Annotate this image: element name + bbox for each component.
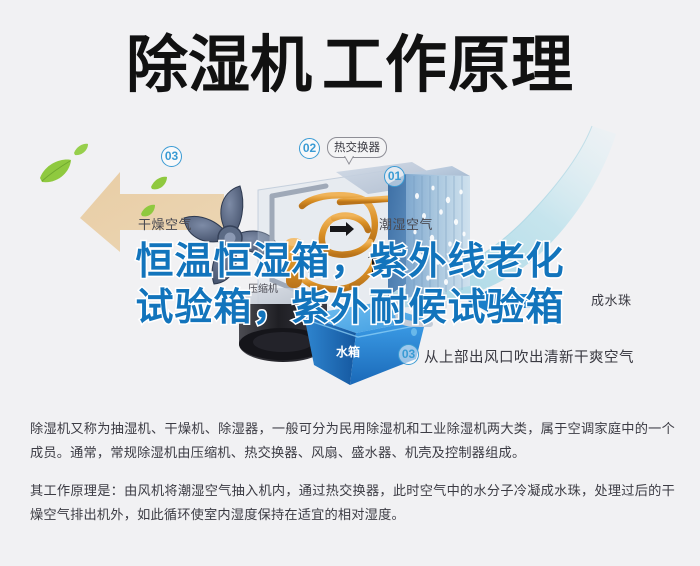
water-tank-label: 水箱 (336, 343, 360, 360)
drain-pipe-icon (394, 294, 434, 336)
intake-arrow-icon (466, 290, 530, 312)
page-title-part1: 除湿机 (126, 28, 312, 101)
page-root: 除湿机工作原理 (0, 0, 700, 566)
callout-label-condense: 成水珠 (591, 290, 632, 309)
callout-badge-01-moist: 01 (384, 166, 405, 187)
callout-badge-03-dry: 03 (161, 146, 182, 167)
callout-badge-03-outlet: 03 (398, 344, 419, 365)
callout-label-heat-exchanger: 热交换器 (327, 137, 387, 158)
paragraph-1: 除湿机又称为抽湿机、干燥机、除湿器，一般可分为民用除湿机和工业除湿机两大类，属于… (30, 418, 675, 466)
page-title: 除湿机工作原理 (0, 30, 700, 100)
paragraph-2: 其工作原理是：由风机将潮湿空气抽入机内，通过热交换器，此时空气中的水分子冷凝成水… (30, 480, 675, 528)
callout-label-outlet: 从上部出风口吹出清新干爽空气 (424, 346, 634, 367)
callout-label-moist-air: 潮湿空气 (379, 214, 433, 233)
callout-bubble-tail (344, 156, 354, 165)
dehumidifier-diagram: 03 干燥空气 02 热交换器 01 潮湿空气 成水珠 03 从上部出风口吹出清… (0, 118, 700, 403)
page-title-part2: 工作原理 (322, 28, 574, 101)
body-copy: 除湿机又称为抽湿机、干燥机、除湿器，一般可分为民用除湿机和工业除湿机两大类，属于… (30, 418, 675, 528)
leaf-icon (73, 143, 89, 156)
callout-label-dry-air: 干燥空气 (138, 214, 192, 233)
leaf-icon (38, 158, 72, 184)
compressor-label: 压缩机 (248, 280, 278, 295)
leaf-icon (150, 176, 168, 191)
callout-badge-02-heat-exchanger: 02 (299, 138, 320, 159)
